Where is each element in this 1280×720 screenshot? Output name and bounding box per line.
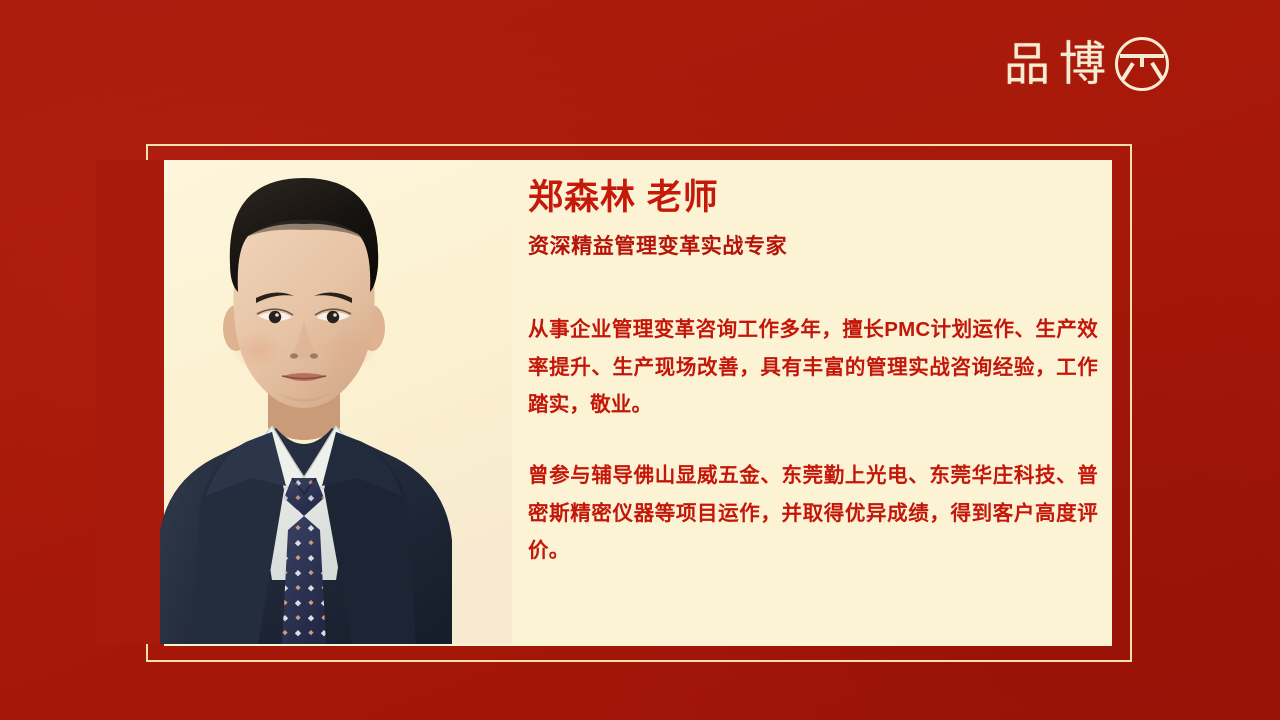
portrait-image bbox=[96, 160, 512, 644]
slide-root: 品 博 bbox=[0, 0, 1280, 720]
logo-glyph-pin: 品 bbox=[1004, 41, 1050, 87]
instructor-name: 郑森林 老师 bbox=[528, 178, 1098, 218]
instructor-portrait bbox=[96, 160, 512, 644]
logo-glyph-bo: 博 bbox=[1059, 41, 1106, 88]
brand-logo[interactable]: 品 博 bbox=[1004, 33, 1176, 95]
circle-emblem-icon bbox=[1115, 37, 1169, 91]
bio-paragraph-projects: 曾参与辅导佛山显威五金、东莞勤上光电、东莞华庄科技、普密斯精密仪器等项目运作，并… bbox=[528, 457, 1098, 569]
profile-text-column: 郑森林 老师 资深精益管理变革实战专家 从事企业管理变革咨询工作多年，擅长PMC… bbox=[528, 178, 1098, 569]
bio-paragraph-experience: 从事企业管理变革咨询工作多年，擅长PMC计划运作、生产效率提升、生产现场改善，具… bbox=[528, 311, 1098, 423]
instructor-title: 资深精益管理变革实战专家 bbox=[528, 234, 1098, 259]
